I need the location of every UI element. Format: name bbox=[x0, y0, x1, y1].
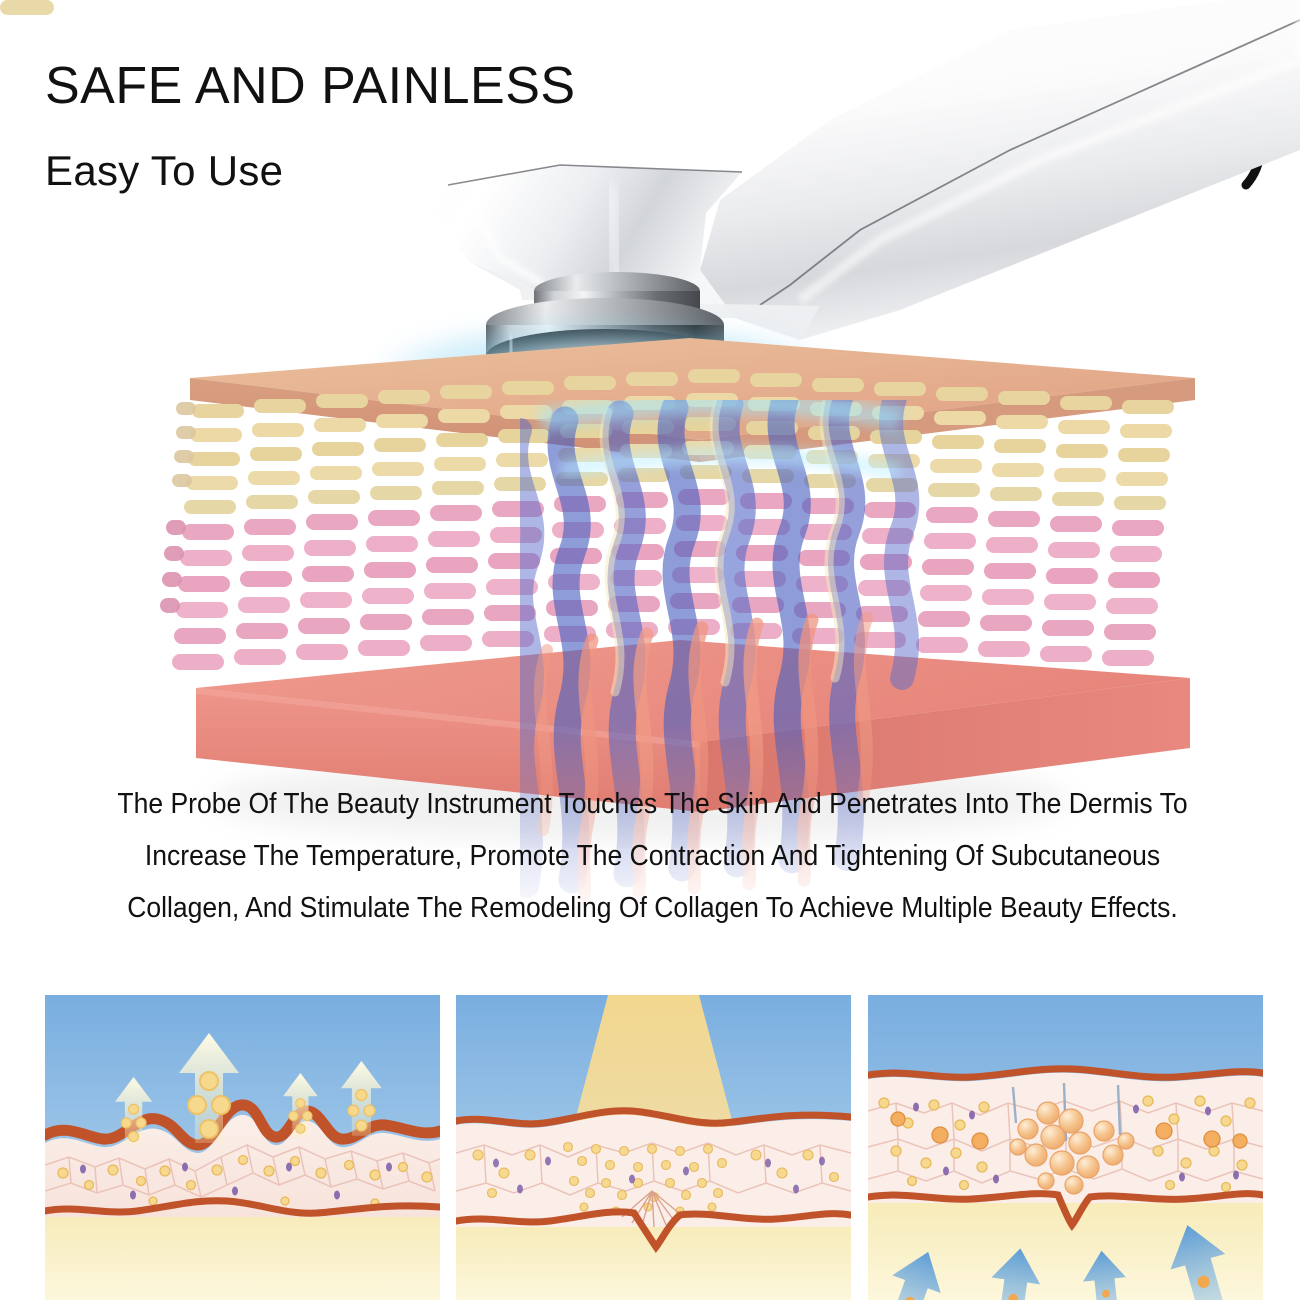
panel-collagen-regeneration bbox=[868, 995, 1263, 1300]
panel-rf-heating bbox=[456, 995, 851, 1300]
process-panels bbox=[0, 0, 1300, 1300]
panel-moisture-loss bbox=[45, 995, 440, 1300]
